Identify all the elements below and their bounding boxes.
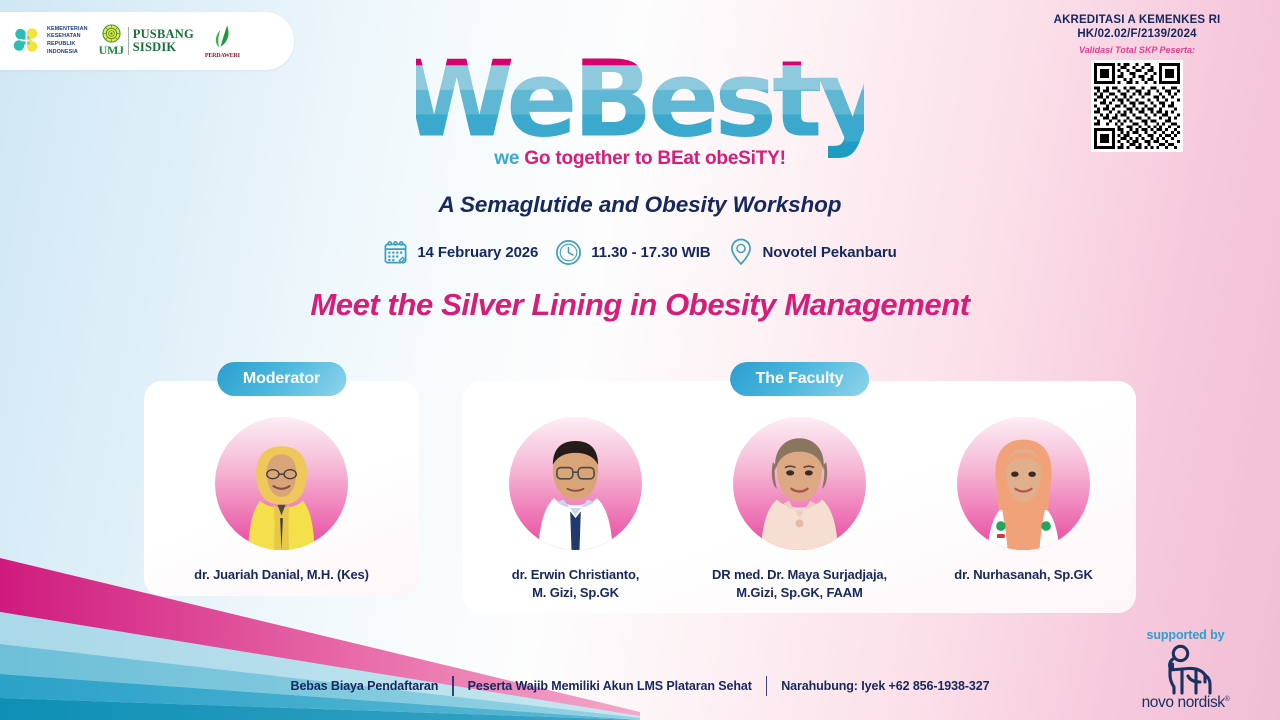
person: dr. Erwin Christianto, M. Gizi, Sp.GK xyxy=(464,417,688,601)
sponsor-block: supported by novo nordisk® xyxy=(1113,628,1258,712)
person: DR med. Dr. Maya Surjadjaja, M.Gizi, Sp.… xyxy=(688,417,912,601)
person-name: dr. Juariah Danial, M.H. (Kes) xyxy=(144,566,419,584)
kemenkes-flower-icon xyxy=(12,26,42,56)
novo-nordisk-label: novo nordisk® xyxy=(1113,694,1258,712)
umj-label: UMJ xyxy=(99,43,124,58)
person-name: dr. Erwin Christianto, M. Gizi, Sp.GK xyxy=(464,566,688,601)
avatar xyxy=(215,417,348,550)
faculty-badge: The Faculty xyxy=(730,362,870,396)
logo-divider xyxy=(128,27,129,55)
qr-code-image xyxy=(1094,63,1180,149)
kemenkes-logo: KEMENTERIAN KESEHATAN REPUBLIK INDONESIA xyxy=(12,26,88,57)
location-pin-icon xyxy=(728,238,754,266)
moderator-portrait xyxy=(215,417,348,550)
accreditation-line-1: AKREDITASI A KEMENKES RI xyxy=(1012,14,1262,26)
faculty-portrait-1 xyxy=(509,417,642,550)
registered-mark: ® xyxy=(1225,696,1230,703)
qr-code[interactable] xyxy=(1091,60,1183,152)
tagline-rest: Go together to BEat obeSiTY! xyxy=(524,148,785,169)
footer-item-registration: Bebas Biaya Pendaftaran xyxy=(277,679,453,693)
umj-pusbang-logo: UMJ PUSBANG SISDIK xyxy=(99,24,194,58)
umj-emblem-icon xyxy=(102,24,121,43)
footer-divider xyxy=(766,676,767,696)
faculty-people-row: dr. Erwin Christianto, M. Gizi, Sp.GK xyxy=(463,417,1136,601)
avatar xyxy=(733,417,866,550)
person-name: dr. Nurhasanah, Sp.GK xyxy=(912,566,1136,584)
event-date: 14 February 2026 xyxy=(383,240,538,265)
footer-item-lms: Peserta Wajib Memiliki Akun LMS Plataran… xyxy=(454,679,766,693)
event-date-label: 14 February 2026 xyxy=(417,244,538,261)
event-venue-label: Novotel Pekanbaru xyxy=(763,244,897,261)
avatar xyxy=(957,417,1090,550)
avatar xyxy=(509,417,642,550)
clock-icon xyxy=(555,239,582,266)
event-time: 11.30 - 17.30 WIB xyxy=(555,239,710,266)
moderator-card: Moderator xyxy=(144,381,419,596)
speakers-section: Moderator xyxy=(0,381,1280,613)
perdaweri-label: PERDAWERI xyxy=(205,53,240,59)
perdaweri-logo: PERDAWERI xyxy=(205,24,240,59)
event-time-label: 11.30 - 17.30 WIB xyxy=(591,244,710,261)
person: dr. Juariah Danial, M.H. (Kes) xyxy=(144,417,419,584)
person: dr. Nurhasanah, Sp.GK xyxy=(912,417,1136,584)
pusbang-sisdik-label: PUSBANG SISDIK xyxy=(133,28,194,54)
calendar-icon xyxy=(383,240,408,265)
event-details-row: 14 February 2026 11.30 - 17.30 WIB Novot… xyxy=(0,238,1280,266)
accreditation-block: AKREDITASI A KEMENKES RI HK/02.02/F/2139… xyxy=(1012,14,1262,152)
perdaweri-leaf-icon xyxy=(211,24,233,52)
faculty-portrait-3 xyxy=(957,417,1090,550)
svg-text:WeBesty: WeBesty xyxy=(416,46,864,158)
moderator-people-row: dr. Juariah Danial, M.H. (Kes) xyxy=(144,417,419,584)
main-headline: Meet the Silver Lining in Obesity Manage… xyxy=(0,287,1280,323)
skp-validation-label: Validasi Total SKP Peserta: xyxy=(1012,45,1262,55)
webesty-wordmark: WeBesty xyxy=(416,46,864,158)
novo-nordisk-apis-bull-icon xyxy=(1158,644,1214,696)
accreditation-line-2: HK/02.02/F/2139/2024 xyxy=(1012,28,1262,40)
organizer-logo-bar: KEMENTERIAN KESEHATAN REPUBLIK INDONESIA… xyxy=(0,12,294,70)
faculty-portrait-2 xyxy=(733,417,866,550)
person-name: DR med. Dr. Maya Surjadjaja, M.Gizi, Sp.… xyxy=(688,566,912,601)
supported-by-label: supported by xyxy=(1113,628,1258,642)
event-venue: Novotel Pekanbaru xyxy=(728,238,897,266)
footer-bar: Bebas Biaya Pendaftaran Peserta Wajib Me… xyxy=(0,676,1280,696)
footer-divider xyxy=(452,676,453,696)
faculty-card: The Faculty xyxy=(463,381,1136,613)
moderator-badge: Moderator xyxy=(217,362,346,396)
tagline-we: we xyxy=(494,148,519,169)
kemenkes-label: KEMENTERIAN KESEHATAN REPUBLIK INDONESIA xyxy=(47,26,88,57)
workshop-subtitle: A Semaglutide and Obesity Workshop xyxy=(0,192,1280,218)
footer-item-contact: Narahubung: Iyek +62 856-1938-327 xyxy=(767,679,1003,693)
